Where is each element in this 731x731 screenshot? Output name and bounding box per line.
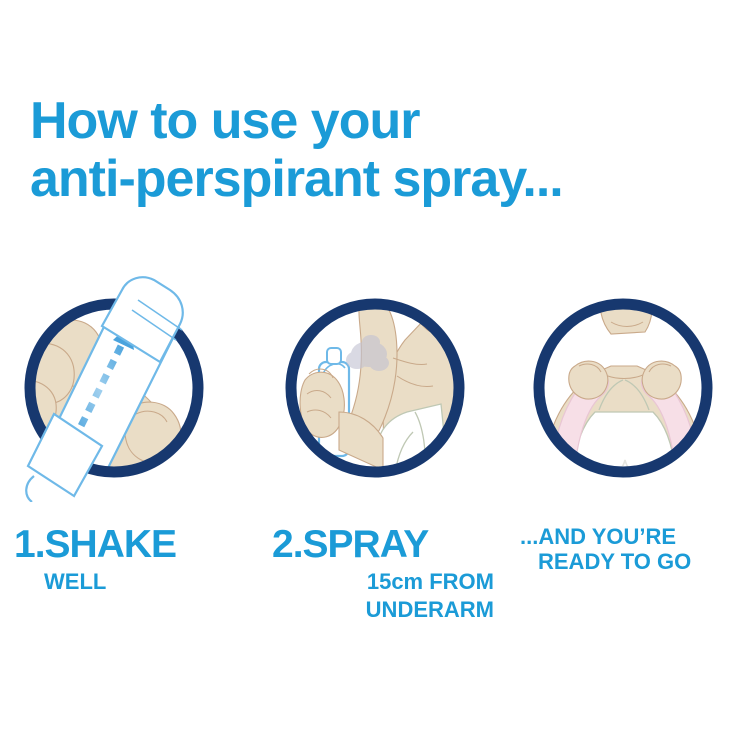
- hand-left: [569, 361, 608, 399]
- can-base-curve: [26, 476, 34, 502]
- caption-step-1-sub-1: WELL: [44, 569, 244, 594]
- caption-step-2-sub-1: 15cm FROM: [272, 569, 494, 594]
- title-line-1: How to use your: [30, 92, 710, 150]
- caption-step-1: 1.SHAKE WELL: [14, 524, 244, 594]
- step-1-illustration: [10, 262, 230, 502]
- step-illustrations-row: [0, 262, 731, 502]
- step-captions-row: 1.SHAKE WELL 2.SPRAY 15cm FROM UNDERARM …: [0, 524, 731, 664]
- caption-step-2: 2.SPRAY 15cm FROM UNDERARM: [272, 524, 494, 622]
- caption-step-2-head: 2.SPRAY: [272, 524, 494, 566]
- caption-step-3-sub-1: ...AND YOU’RE: [520, 524, 730, 549]
- caption-step-2-sub-2: UNDERARM: [272, 597, 494, 622]
- can-nozzle: [327, 348, 341, 364]
- hand-right: [642, 361, 681, 399]
- hair-fringe: [425, 279, 459, 288]
- caption-step-3: ...AND YOU’RE READY TO GO: [520, 524, 730, 574]
- page-title: How to use your anti-perspirant spray...: [30, 92, 710, 208]
- caption-step-3-sub-2: READY TO GO: [538, 549, 730, 574]
- step-2-illustration: [265, 262, 485, 502]
- caption-step-1-head: 1.SHAKE: [14, 524, 244, 566]
- title-line-2: anti-perspirant spray...: [30, 150, 710, 208]
- step-3-illustration: [515, 262, 731, 502]
- infographic-page: How to use your anti-perspirant spray...: [0, 0, 731, 731]
